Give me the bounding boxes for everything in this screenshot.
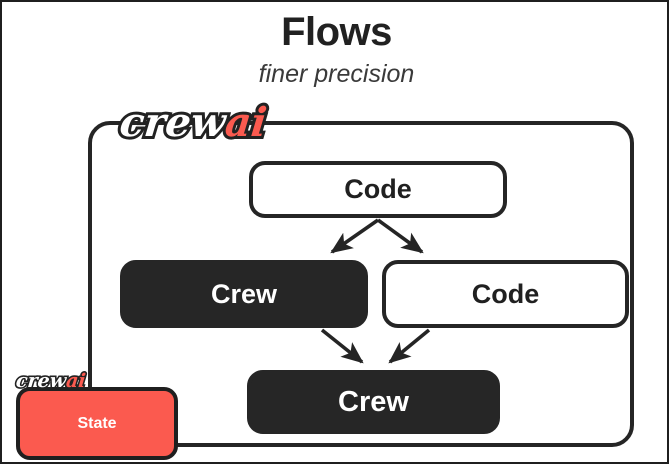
node-label: Crew — [211, 279, 277, 310]
crewai-logo: crewai — [118, 103, 269, 143]
node-label: Code — [472, 279, 540, 310]
node-label: Crew — [338, 386, 409, 419]
crewai-logo-crew-text: crew — [118, 99, 228, 146]
crewai-logo-ai-text: ai — [65, 370, 87, 392]
page-subtitle: finer precision — [2, 60, 669, 89]
node-crew-bottom[interactable]: Crew — [247, 370, 500, 434]
node-code-top[interactable]: Code — [249, 161, 507, 218]
crewai-logo-state: crewai — [15, 372, 87, 391]
diagram-canvas: Flows finer precision Code Crew Code Cre… — [0, 0, 669, 464]
node-state[interactable]: State — [16, 387, 178, 460]
node-crew-mid[interactable]: Crew — [120, 260, 368, 328]
page-title: Flows — [2, 10, 669, 55]
node-label: Code — [344, 174, 412, 205]
crewai-logo-crew-text: crew — [15, 370, 67, 392]
crewai-logo-ai-text: ai — [223, 99, 269, 146]
node-code-mid[interactable]: Code — [382, 260, 629, 328]
node-label: State — [77, 415, 116, 433]
